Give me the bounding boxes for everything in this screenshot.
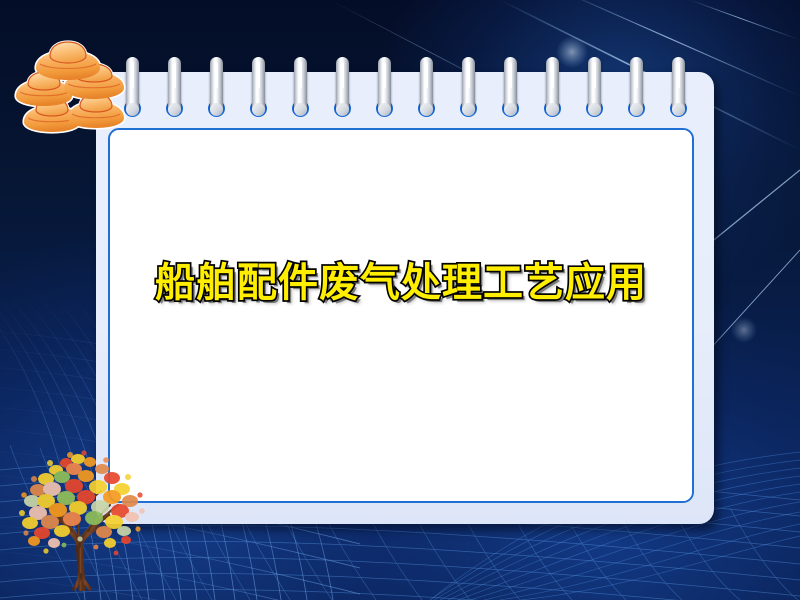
spiral-ring-cap (168, 103, 181, 116)
spiral-ring (166, 57, 183, 117)
spiral-ring (544, 57, 561, 117)
light-sparkle (731, 317, 757, 343)
spiral-ring-cap (672, 103, 685, 116)
spiral-ring-cap (588, 103, 601, 116)
spiral-ring (208, 57, 225, 117)
title-block: 船舶配件废气处理工艺应用 (108, 262, 694, 304)
spiral-ring-cap (546, 103, 559, 116)
spiral-ring (292, 57, 309, 117)
gold-ingots-decoration (6, 26, 156, 134)
spiral-ring-cap (294, 103, 307, 116)
spiral-ring (670, 57, 687, 117)
spiral-ring (334, 57, 351, 117)
spiral-ring-cap (504, 103, 517, 116)
spiral-ring-cap (630, 103, 643, 116)
presentation-slide: 船舶配件废气处理工艺应用 (0, 0, 800, 600)
spiral-ring (586, 57, 603, 117)
spiral-ring (502, 57, 519, 117)
spiral-ring-cap (252, 103, 265, 116)
spiral-ring-cap (378, 103, 391, 116)
spiral-ring (250, 57, 267, 117)
spiral-ring-cap (462, 103, 475, 116)
page-title: 船舶配件废气处理工艺应用 (155, 262, 647, 304)
spiral-ring-cap (420, 103, 433, 116)
spiral-ring-cap (336, 103, 349, 116)
spiral-ring (376, 57, 393, 117)
spiral-ring (418, 57, 435, 117)
spiral-ring (628, 57, 645, 117)
notepad-page-inner-border (110, 130, 692, 501)
autumn-tree-decoration (16, 443, 156, 591)
tree-foliage (19, 450, 145, 555)
spiral-ring (460, 57, 477, 117)
spiral-ring-cap (210, 103, 223, 116)
notepad-page (108, 128, 694, 503)
